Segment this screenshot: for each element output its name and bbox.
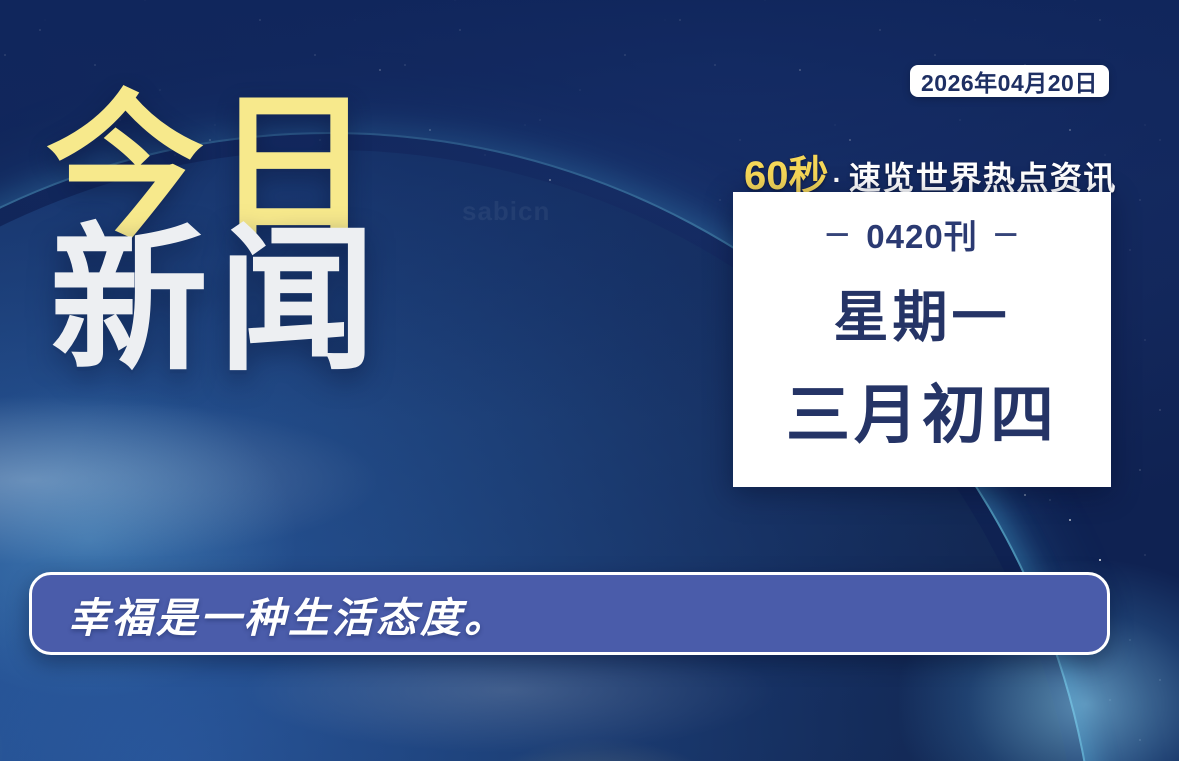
issue-dash-left-icon: － [823,214,852,254]
date-badge-label: 2026年04月20日 [921,64,1098,98]
issue-row: － 0420刊 － [823,210,1020,258]
issue-dash-right-icon: － [992,214,1021,254]
news-poster: sabicn 今日 新闻 2026年04月20日 60秒 · 速览世界热点资讯 … [0,0,1179,761]
issue-number-label: 0420刊 [866,210,977,258]
weekday-label: 星期一 [833,272,1010,352]
lunar-date-label: 三月初四 [786,364,1058,456]
date-badge: 2026年04月20日 [910,65,1109,97]
headline-line-news: 新闻 [50,229,386,374]
quote-banner: 幸福是一种生活态度。 [29,572,1110,655]
page-title: 今日 新闻 [46,96,386,375]
issue-info-card: － 0420刊 － 星期一 三月初四 [733,192,1111,487]
quote-text: 幸福是一种生活态度。 [68,584,508,644]
